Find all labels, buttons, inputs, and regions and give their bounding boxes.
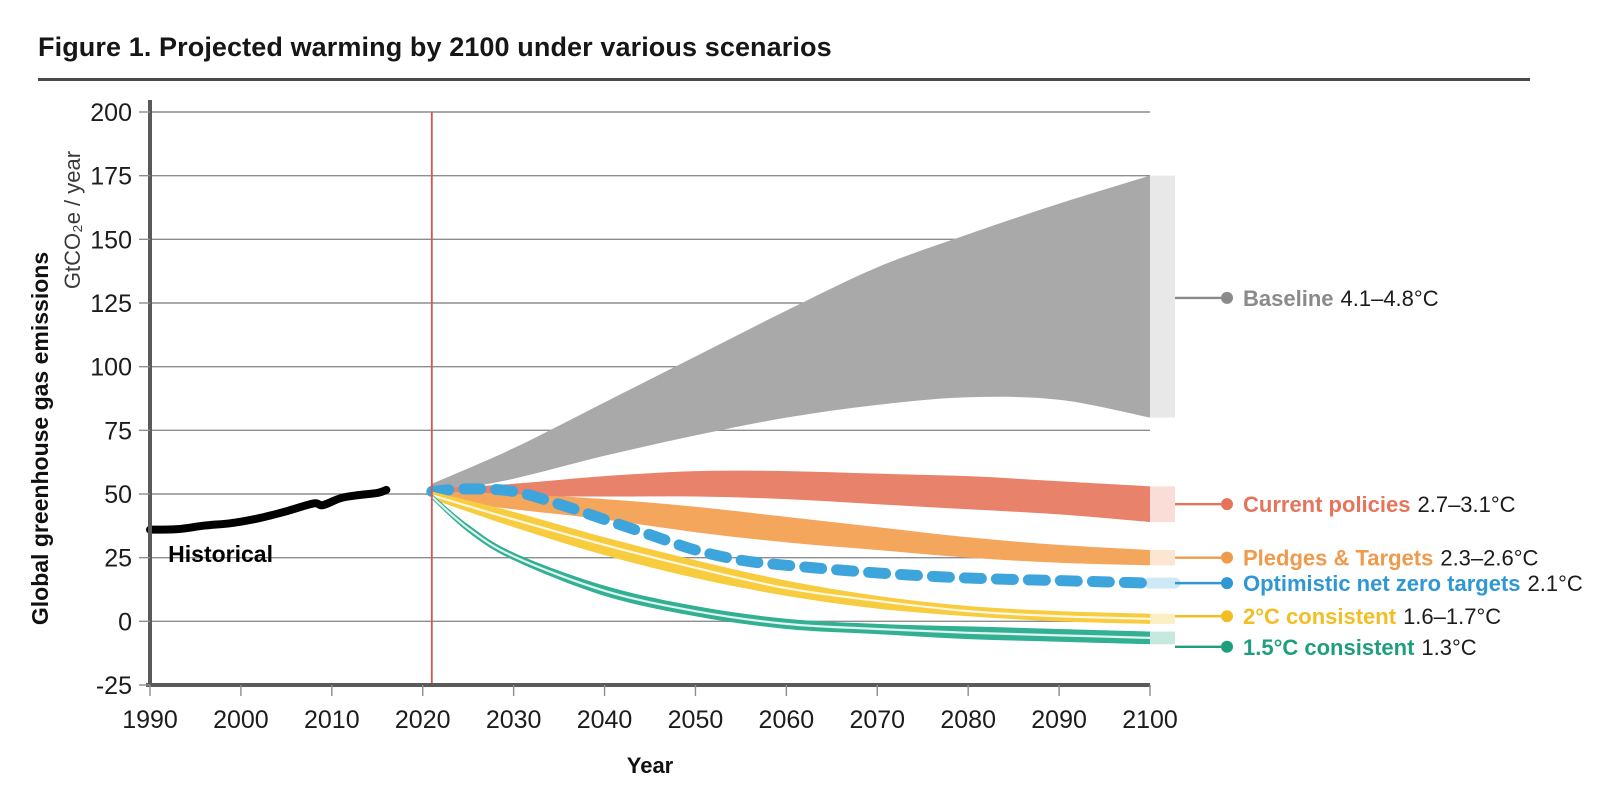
legend-label-two_degree: 2°C consistent1.6–1.7°C [1243,604,1501,629]
legend-name-optimistic_net_zero: Optimistic net zero targets [1243,571,1521,596]
series-baseline [432,176,1175,494]
series-baseline-band [432,176,1150,494]
legend-dot-optimistic_net_zero [1221,577,1233,589]
y-tick-50: 50 [104,481,132,509]
series-pledges_targets-fade [1150,550,1175,565]
legend-value-two_degree: 1.6–1.7°C [1403,604,1501,629]
y-tick-175: 175 [90,163,132,191]
figure-container: Figure 1. Projected warming by 2100 unde… [0,0,1600,800]
x-axis-title: Year [627,753,674,778]
y-tick--25: -25 [96,672,132,700]
series-current_policies-fade [1150,486,1175,522]
series-bands [432,176,1175,645]
x-tick-2100: 2100 [1122,706,1178,734]
y-axis-unit: GtCO₂e / year [60,151,85,289]
legend-item-baseline[interactable]: Baseline4.1–4.8°C [1175,286,1439,311]
y-tick-150: 150 [90,226,132,254]
chart-legend[interactable]: Baseline4.1–4.8°CCurrent policies2.7–3.1… [1175,286,1583,660]
x-tick-2080: 2080 [940,706,996,734]
x-tick-2030: 2030 [486,706,542,734]
legend-value-one_point_five: 1.3°C [1421,635,1476,660]
legend-label-optimistic_net_zero: Optimistic net zero targets2.1°C [1243,571,1583,596]
legend-dot-pledges_targets [1221,552,1233,564]
legend-name-current_policies: Current policies [1243,492,1410,517]
x-tick-2040: 2040 [577,706,633,734]
legend-item-one_point_five[interactable]: 1.5°C consistent1.3°C [1175,635,1477,660]
legend-name-one_point_five: 1.5°C consistent [1243,635,1415,660]
y-tick-75: 75 [104,417,132,445]
y-tick-0: 0 [118,608,132,636]
historical-line: Historical [150,490,386,567]
series-one_point_five-fade [1150,632,1175,645]
series-baseline-fade [1150,176,1175,418]
y-tick-25: 25 [104,545,132,573]
legend-dot-one_point_five [1221,641,1233,653]
x-tick-1990: 1990 [122,706,178,734]
y-tick-200: 200 [90,99,132,127]
y-tick-125: 125 [90,290,132,318]
historical-label: Historical [168,541,273,567]
x-tick-2070: 2070 [849,706,905,734]
series-two_degree-fade [1150,614,1175,624]
legend-name-pledges_targets: Pledges & Targets [1243,546,1433,571]
legend-label-one_point_five: 1.5°C consistent1.3°C [1243,635,1477,660]
legend-dot-baseline [1221,292,1233,304]
legend-name-baseline: Baseline [1243,286,1334,311]
legend-item-optimistic_net_zero[interactable]: Optimistic net zero targets2.1°C [1175,571,1583,596]
figure-title: Figure 1. Projected warming by 2100 unde… [38,32,832,63]
y-axis-title: Global greenhouse gas emissions [27,252,53,625]
legend-dot-current_policies [1221,498,1233,510]
legend-label-pledges_targets: Pledges & Targets2.3–2.6°C [1243,546,1539,571]
legend-label-current_policies: Current policies2.7–3.1°C [1243,492,1516,517]
legend-value-pledges_targets: 2.3–2.6°C [1440,546,1538,571]
x-tick-2050: 2050 [668,706,724,734]
emissions-scenario-chart: Historical -2502550751001251501752001990… [0,80,1600,800]
historical-emissions-line [150,490,386,530]
legend-item-pledges_targets[interactable]: Pledges & Targets2.3–2.6°C [1175,546,1539,571]
legend-label-baseline: Baseline4.1–4.8°C [1243,286,1439,311]
legend-value-optimistic_net_zero: 2.1°C [1528,571,1583,596]
legend-item-current_policies[interactable]: Current policies2.7–3.1°C [1175,492,1516,517]
y-tick-100: 100 [90,354,132,382]
x-tick-2090: 2090 [1031,706,1087,734]
x-tick-2010: 2010 [304,706,360,734]
legend-item-two_degree[interactable]: 2°C consistent1.6–1.7°C [1175,604,1501,629]
x-tick-2060: 2060 [759,706,815,734]
legend-dot-two_degree [1221,610,1233,622]
x-tick-2020: 2020 [395,706,451,734]
legend-value-current_policies: 2.7–3.1°C [1417,492,1515,517]
legend-name-two_degree: 2°C consistent [1243,604,1397,629]
legend-value-baseline: 4.1–4.8°C [1341,286,1439,311]
x-tick-2000: 2000 [213,706,269,734]
